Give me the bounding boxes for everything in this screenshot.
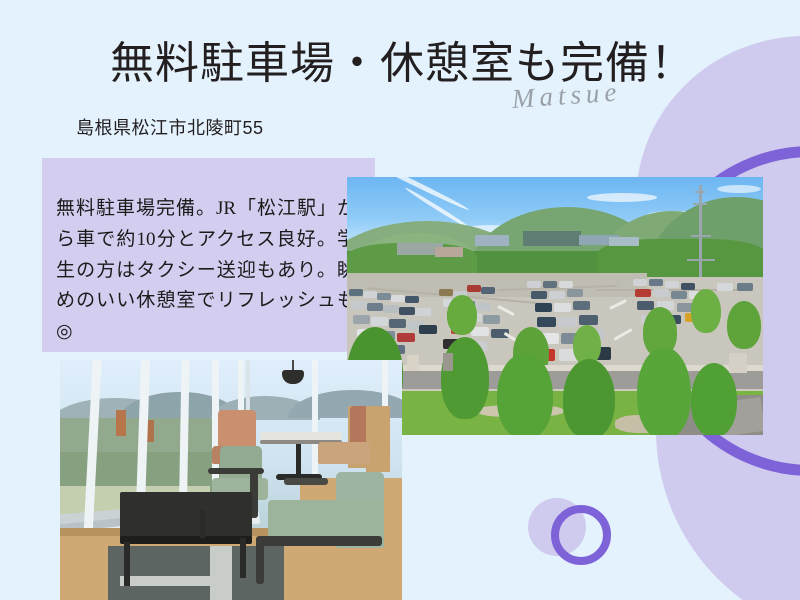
description-panel: 無料駐車場完備。JR「松江駅」から車で約10分とアクセス良好。学生の方はタクシー…: [42, 158, 375, 352]
page-title: 無料駐車場・休憩室も完備！: [110, 38, 730, 90]
script-accent-word: Matsue: [511, 76, 622, 115]
address-line: 島根県松江市北陵町55: [76, 114, 264, 140]
lounge-interior-photo: [60, 360, 402, 600]
description-text: 無料駐車場完備。JR「松江駅」から車で約10分とアクセス良好。学生の方はタクシー…: [56, 194, 356, 348]
slide-canvas: 無料駐車場・休憩室も完備！ Matsue 島根県松江市北陵町55 無料駐車場完備…: [0, 0, 800, 600]
circle-fill-small-decoration: [528, 498, 586, 556]
circle-ring-small-decoration: [551, 505, 611, 565]
parking-lot-aerial-photo: [347, 177, 763, 435]
